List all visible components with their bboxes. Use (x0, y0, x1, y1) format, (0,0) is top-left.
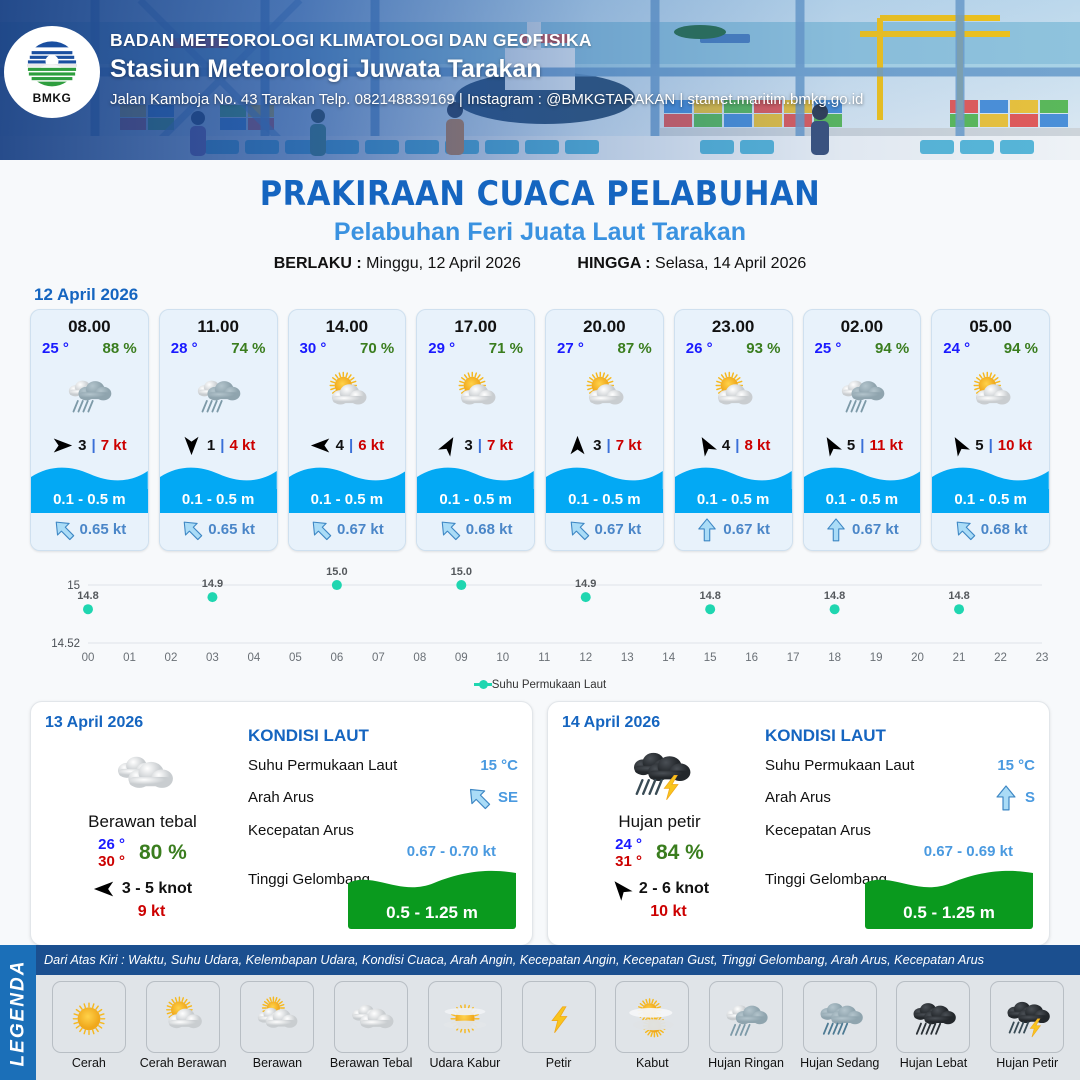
card-humidity: 88 % (103, 340, 137, 357)
svg-text:23: 23 (1036, 652, 1049, 664)
forecast-card: 20.00 27 ° 87 % 3 | 7 kt (545, 309, 664, 551)
card-time: 02.00 (804, 310, 921, 337)
legend-icon-box (428, 981, 502, 1053)
sst-chart-svg: 1514.52000102030405060708091011121314151… (30, 565, 1050, 677)
hujan-ringan-icon (187, 365, 249, 421)
card-time: 23.00 (675, 310, 792, 337)
card-time: 11.00 (160, 310, 277, 337)
card-wave-height: 0.1 - 0.5 m (954, 491, 1027, 508)
card-time: 20.00 (546, 310, 663, 337)
current-direction-icon (696, 518, 718, 542)
legend-caption: Berawan Tebal (330, 1056, 412, 1070)
card-humidity: 70 % (360, 340, 394, 357)
card-humidity: 71 % (489, 340, 523, 357)
card-temperature: 25 ° (815, 340, 842, 357)
svg-text:14.8: 14.8 (699, 590, 720, 602)
header-text-block: BADAN METEOROLOGI KLIMATOLOGI DAN GEOFIS… (110, 30, 863, 108)
wave-shape-icon (675, 463, 792, 489)
svg-text:14.8: 14.8 (77, 590, 98, 602)
wind-direction-icon (817, 431, 846, 460)
hujan-ringan-icon (716, 990, 776, 1044)
panel-temp-max: 31 ° (615, 853, 642, 870)
legend-icon-box (334, 981, 408, 1053)
card-humidity: 87 % (618, 340, 652, 357)
card-weather-icon (804, 357, 921, 429)
card-temp-humidity-row: 27 ° 87 % (546, 337, 663, 357)
wave-height-band: 0.5 - 1.25 m (865, 901, 1033, 929)
card-wave-height: 0.1 - 0.5 m (311, 491, 384, 508)
svg-text:05: 05 (289, 652, 302, 664)
card-current-speed: 0.67 kt (852, 521, 899, 538)
svg-text:22: 22 (994, 652, 1007, 664)
card-wind-speed: 5 (975, 437, 983, 454)
current-direction-icon (461, 780, 496, 815)
svg-text:14.52: 14.52 (51, 638, 80, 650)
panel-humidity: 80 % (139, 841, 187, 865)
sea-condition-title: KONDISI LAUT (765, 726, 1035, 746)
wave-shape-icon (804, 463, 921, 489)
cerah-berawan-icon (702, 365, 764, 421)
current-direction-value-group: S (994, 785, 1035, 811)
panel-wind-row: 3 - 5 knot (45, 878, 240, 900)
sst-label: Suhu Permukaan Laut (765, 757, 914, 774)
sst-value: 15 °C (997, 757, 1035, 774)
svg-text:15.0: 15.0 (451, 566, 472, 578)
legend-icon-box (896, 981, 970, 1053)
card-wave-graphic: 0.1 - 0.5 m (932, 463, 1049, 513)
panel-condition: Hujan petir (562, 812, 757, 832)
card-wind-separator: | (860, 437, 864, 454)
card-time: 17.00 (417, 310, 534, 337)
validity-row: BERLAKU : Minggu, 12 April 2026 HINGGA :… (0, 255, 1080, 273)
wave-height-value: 0.5 - 1.25 m (386, 903, 478, 922)
current-direction-icon (562, 514, 594, 546)
card-temperature: 26 ° (686, 340, 713, 357)
wind-direction-icon (605, 874, 636, 905)
svg-text:20: 20 (911, 652, 924, 664)
legend-caption: Kabut (636, 1056, 669, 1070)
svg-text:14: 14 (662, 652, 675, 664)
panel-temp-min: 26 ° (98, 836, 125, 853)
card-wave-graphic: 0.1 - 0.5 m (417, 463, 534, 513)
legend-icon-box (803, 981, 877, 1053)
wave-shape-icon (546, 463, 663, 489)
svg-text:13: 13 (621, 652, 634, 664)
legend-caption: Udara Kabur (429, 1056, 500, 1070)
wave-shape-icon (289, 463, 406, 489)
page-title: PRAKIRAAN CUACA PELABUHAN (0, 174, 1080, 214)
svg-text:21: 21 (953, 652, 966, 664)
sea-condition-title: KONDISI LAUT (248, 726, 518, 746)
wave-shape-green-icon (865, 867, 1033, 901)
card-wind-row: 4 | 8 kt (675, 429, 792, 461)
berawan-icon (247, 990, 307, 1044)
valid-from-value: Minggu, 12 April 2026 (366, 255, 521, 272)
legend-caption: Hujan Lebat (900, 1056, 967, 1070)
sst-chart: 1514.52000102030405060708091011121314151… (30, 565, 1050, 677)
card-gust: 8 kt (744, 437, 770, 454)
legend-item: Berawan (235, 981, 321, 1070)
legend-caption: Hujan Petir (996, 1056, 1058, 1070)
card-wave-height: 0.1 - 0.5 m (53, 491, 126, 508)
card-humidity: 94 % (875, 340, 909, 357)
card-wind-row: 3 | 7 kt (417, 429, 534, 461)
legend-icon-box (146, 981, 220, 1053)
card-wave-band: 0.1 - 0.5 m (804, 489, 921, 513)
panel-gust: 9 kt (45, 903, 240, 921)
card-wave-graphic: 0.1 - 0.5 m (289, 463, 406, 513)
card-wave-height: 0.1 - 0.5 m (697, 491, 770, 508)
svg-text:06: 06 (330, 652, 343, 664)
legend-icon-box (240, 981, 314, 1053)
current-direction-icon (47, 514, 79, 546)
card-wind-speed: 4 (722, 437, 730, 454)
forecast-card: 05.00 24 ° 94 % 5 | 10 kt (931, 309, 1050, 551)
card-time: 08.00 (31, 310, 148, 337)
card-wave-band: 0.1 - 0.5 m (417, 489, 534, 513)
panel-temps-row: 26 ° 30 ° 80 % (45, 836, 240, 871)
legend-side-label: LEGENDA (7, 959, 29, 1066)
card-wind-separator: | (607, 437, 611, 454)
current-direction-value-group: SE (467, 785, 518, 811)
legend-dot-icon (479, 680, 488, 689)
bmkg-logo: BMKG (4, 26, 100, 118)
svg-text:01: 01 (123, 652, 136, 664)
card-current-row: 0.67 kt (546, 513, 663, 550)
forecast-card: 23.00 26 ° 93 % 4 | 8 kt (674, 309, 793, 551)
daily-summary-panel: 14 April 2026 Hujan petir (547, 701, 1050, 946)
legend-caption: Hujan Sedang (800, 1056, 879, 1070)
svg-text:02: 02 (165, 652, 178, 664)
title-block: PRAKIRAAN CUACA PELABUHAN Pelabuhan Feri… (0, 160, 1080, 273)
card-wind-row: 4 | 6 kt (289, 429, 406, 461)
svg-text:03: 03 (206, 652, 219, 664)
card-wind-separator: | (92, 437, 96, 454)
card-current-row: 0.67 kt (675, 513, 792, 550)
wave-shape-icon (417, 463, 534, 489)
hujan-ringan-icon (58, 365, 120, 421)
card-current-speed: 0.68 kt (466, 521, 513, 538)
wave-height-badge: 0.5 - 1.25 m (348, 867, 516, 929)
forecast-card: 11.00 28 ° 74 % (159, 309, 278, 551)
panel-right: KONDISI LAUT Suhu Permukaan Laut 15 °C A… (757, 714, 1035, 933)
legend-note: Dari Atas Kiri : Waktu, Suhu Udara, Kele… (44, 953, 984, 967)
panel-condition: Berawan tebal (45, 812, 240, 832)
legend-item: Hujan Sedang (797, 981, 883, 1070)
legend-items-row: Cerah Cerah Berawan (36, 975, 1080, 1080)
card-temperature: 27 ° (557, 340, 584, 357)
card-gust: 6 kt (358, 437, 384, 454)
card-weather-icon (31, 357, 148, 429)
legend-item: Cerah (46, 981, 132, 1070)
svg-text:15.0: 15.0 (326, 566, 347, 578)
card-temperature: 24 ° (943, 340, 970, 357)
panel-temp-max: 30 ° (98, 853, 125, 870)
svg-text:15: 15 (704, 652, 717, 664)
wave-shape-icon (932, 463, 1049, 489)
panel-weather-icon (45, 734, 240, 812)
current-direction-icon (305, 514, 337, 546)
card-current-row: 0.65 kt (160, 513, 277, 550)
bmkg-emblem-icon (24, 40, 80, 90)
card-current-row: 0.67 kt (289, 513, 406, 550)
svg-text:16: 16 (745, 652, 758, 664)
card-wave-band: 0.1 - 0.5 m (932, 489, 1049, 513)
card-temperature: 28 ° (171, 340, 198, 357)
valid-to-value: Selasa, 14 April 2026 (655, 255, 806, 272)
panel-gust: 10 kt (562, 903, 757, 921)
legend-item: Kabut (609, 981, 695, 1070)
card-wave-graphic: 0.1 - 0.5 m (160, 463, 277, 513)
card-current-speed: 0.65 kt (80, 521, 127, 538)
card-humidity: 94 % (1004, 340, 1038, 357)
cerah-icon (59, 990, 119, 1044)
current-speed-label: Kecepatan Arus (765, 822, 871, 839)
wind-direction-icon (181, 435, 202, 456)
card-wind-separator: | (478, 437, 482, 454)
svg-text:18: 18 (828, 652, 841, 664)
card-current-speed: 0.65 kt (208, 521, 255, 538)
wave-height-value: 0.5 - 1.25 m (903, 903, 995, 922)
wave-shape-icon (31, 463, 148, 489)
wind-direction-icon (692, 431, 721, 460)
agency-name: BADAN METEOROLOGI KLIMATOLOGI DAN GEOFIS… (110, 30, 863, 51)
card-wave-graphic: 0.1 - 0.5 m (675, 463, 792, 513)
card-wind-separator: | (989, 437, 993, 454)
sst-row: Suhu Permukaan Laut 15 °C (765, 757, 1035, 774)
card-wave-height: 0.1 - 0.5 m (826, 491, 899, 508)
current-direction-icon (949, 514, 981, 546)
hujan-lebat-icon (903, 990, 963, 1044)
legend-caption: Hujan Ringan (708, 1056, 784, 1070)
wind-direction-icon (310, 435, 331, 456)
card-wave-height: 0.1 - 0.5 m (182, 491, 255, 508)
contact-line: Jalan Kamboja No. 43 Tarakan Telp. 08214… (110, 91, 863, 108)
svg-text:08: 08 (413, 652, 426, 664)
card-temp-humidity-row: 25 ° 94 % (804, 337, 921, 357)
card-current-row: 0.68 kt (932, 513, 1049, 550)
svg-text:07: 07 (372, 652, 385, 664)
panel-wind-range: 3 - 5 knot (122, 880, 192, 898)
svg-text:17: 17 (787, 652, 800, 664)
card-wind-row: 3 | 7 kt (546, 429, 663, 461)
udara-kabur-icon (435, 990, 495, 1044)
card-time: 05.00 (932, 310, 1049, 337)
wave-height-badge: 0.5 - 1.25 m (865, 867, 1033, 929)
card-humidity: 74 % (231, 340, 265, 357)
card-wind-speed: 3 (593, 437, 601, 454)
legend-icon-box (990, 981, 1064, 1053)
card-temperature: 29 ° (428, 340, 455, 357)
sst-label: Suhu Permukaan Laut (248, 757, 397, 774)
card-current-speed: 0.67 kt (337, 521, 384, 538)
legend-item: Hujan Ringan (703, 981, 789, 1070)
card-current-row: 0.68 kt (417, 513, 534, 550)
card-weather-icon (675, 357, 792, 429)
card-wind-speed: 3 (464, 437, 472, 454)
forecast-card: 14.00 30 ° 70 % 4 | 6 kt (288, 309, 407, 551)
legend-item: Berawan Tebal (328, 981, 414, 1070)
card-current-row: 0.65 kt (31, 513, 148, 550)
forecast-card: 17.00 29 ° 71 % 3 | 7 kt (416, 309, 535, 551)
legend-icon-box (52, 981, 126, 1053)
legend-caption: Petir (546, 1056, 572, 1070)
card-wave-band: 0.1 - 0.5 m (31, 489, 148, 513)
legend-bar: LEGENDA Dari Atas Kiri : Waktu, Suhu Uda… (0, 945, 1080, 1080)
card-weather-icon (417, 357, 534, 429)
cerah-berawan-icon (153, 990, 213, 1044)
current-speed-row: Kecepatan Arus (248, 822, 518, 839)
current-direction-label: Arah Arus (248, 789, 314, 806)
wind-direction-icon (52, 435, 73, 456)
card-gust: 11 kt (869, 437, 902, 454)
hujan-ringan-icon (831, 365, 893, 421)
svg-text:19: 19 (870, 652, 883, 664)
card-gust: 7 kt (101, 437, 127, 454)
card-wind-separator: | (735, 437, 739, 454)
cerah-berawan-icon (573, 365, 635, 421)
panel-temp-column: 24 ° 31 ° (615, 836, 642, 871)
svg-text:14.9: 14.9 (202, 578, 223, 590)
current-direction-icon (434, 514, 466, 546)
wind-direction-icon (93, 878, 115, 900)
card-gust: 10 kt (998, 437, 1032, 454)
petir-icon (529, 990, 589, 1044)
card-gust: 7 kt (487, 437, 513, 454)
svg-text:00: 00 (82, 652, 95, 664)
legend-side-tab: LEGENDA (0, 945, 36, 1080)
card-weather-icon (289, 357, 406, 429)
svg-text:14.8: 14.8 (824, 590, 845, 602)
forecast-date-label: 12 April 2026 (34, 285, 1080, 305)
card-weather-icon (932, 357, 1049, 429)
card-temp-humidity-row: 24 ° 94 % (932, 337, 1049, 357)
card-wave-height: 0.1 - 0.5 m (568, 491, 641, 508)
hujan-sedang-icon (810, 990, 870, 1044)
legend-item: Petir (516, 981, 602, 1070)
card-wind-speed: 3 (78, 437, 86, 454)
panel-wind-row: 2 - 6 knot (562, 878, 757, 900)
card-time: 14.00 (289, 310, 406, 337)
hujan-petir-icon (620, 737, 700, 809)
card-temp-humidity-row: 26 ° 93 % (675, 337, 792, 357)
current-direction-icon (176, 514, 208, 546)
wave-shape-icon (160, 463, 277, 489)
current-speed-value: 0.67 - 0.69 kt (765, 843, 1035, 860)
panel-left: 14 April 2026 Hujan petir (562, 714, 757, 933)
card-weather-icon (546, 357, 663, 429)
legend-item: Udara Kabur (422, 981, 508, 1070)
card-wind-speed: 5 (847, 437, 855, 454)
wind-direction-icon (567, 435, 588, 456)
card-wind-speed: 4 (336, 437, 344, 454)
svg-text:11: 11 (538, 652, 550, 664)
berawan-tebal-icon (103, 737, 183, 809)
panel-humidity: 84 % (656, 841, 704, 865)
current-speed-row: Kecepatan Arus (765, 822, 1035, 839)
bmkg-logo-text: BMKG (33, 91, 72, 105)
legend-item: Hujan Petir (984, 981, 1070, 1070)
card-temp-humidity-row: 30 ° 70 % (289, 337, 406, 357)
current-direction-icon (994, 785, 1018, 811)
panel-temps-row: 24 ° 31 ° 84 % (562, 836, 757, 871)
svg-text:12: 12 (579, 652, 592, 664)
card-temperature: 30 ° (300, 340, 327, 357)
panel-wind-range: 2 - 6 knot (639, 880, 709, 898)
card-wave-band: 0.1 - 0.5 m (675, 489, 792, 513)
card-humidity: 93 % (746, 340, 780, 357)
current-direction-label: Arah Arus (765, 789, 831, 806)
page-header: BMKG BADAN METEOROLOGI KLIMATOLOGI DAN G… (0, 0, 1080, 160)
legend-icon-box (615, 981, 689, 1053)
forecast-card: 02.00 25 ° 94 % (803, 309, 922, 551)
panel-right: KONDISI LAUT Suhu Permukaan Laut 15 °C A… (240, 714, 518, 933)
wave-height-band: 0.5 - 1.25 m (348, 901, 516, 929)
legend-caption: Cerah Berawan (140, 1056, 227, 1070)
legend-item: Hujan Lebat (891, 981, 977, 1070)
panel-temp-column: 26 ° 30 ° (98, 836, 125, 871)
valid-to-group: HINGGA : Selasa, 14 April 2026 (577, 255, 806, 273)
legend-caption: Berawan (253, 1056, 302, 1070)
card-wave-graphic: 0.1 - 0.5 m (546, 463, 663, 513)
card-gust: 7 kt (616, 437, 642, 454)
legend-item: Cerah Berawan (140, 981, 227, 1070)
legend-caption: Cerah (72, 1056, 106, 1070)
card-wave-band: 0.1 - 0.5 m (546, 489, 663, 513)
svg-text:04: 04 (248, 652, 261, 664)
current-direction-icon (825, 518, 847, 542)
current-direction-row: Arah Arus S (765, 785, 1035, 811)
current-direction-row: Arah Arus SE (248, 785, 518, 811)
cerah-berawan-icon (316, 365, 378, 421)
card-weather-icon (160, 357, 277, 429)
kabut-icon (622, 990, 682, 1044)
card-wind-row: 1 | 4 kt (160, 429, 277, 461)
card-wind-row: 3 | 7 kt (31, 429, 148, 461)
svg-text:14.9: 14.9 (575, 578, 596, 590)
card-temp-humidity-row: 25 ° 88 % (31, 337, 148, 357)
forecast-cards-row: 08.00 25 ° 88 % (0, 309, 1080, 551)
current-direction-value: SE (498, 789, 518, 806)
legend-icon-box (709, 981, 783, 1053)
card-wind-separator: | (349, 437, 353, 454)
cerah-berawan-icon (445, 365, 507, 421)
wave-shape-green-icon (348, 867, 516, 901)
valid-from-group: BERLAKU : Minggu, 12 April 2026 (274, 255, 521, 273)
daily-summary-panel: 13 April 2026 Berawan tebal (30, 701, 533, 946)
wind-direction-icon (435, 431, 464, 460)
svg-text:09: 09 (455, 652, 468, 664)
card-wind-separator: | (220, 437, 224, 454)
current-direction-value: S (1025, 789, 1035, 806)
valid-from-label: BERLAKU : (274, 255, 362, 272)
card-wind-speed: 1 (207, 437, 215, 454)
card-temp-humidity-row: 29 ° 71 % (417, 337, 534, 357)
valid-to-label: HINGGA : (577, 255, 650, 272)
panel-weather-icon (562, 734, 757, 812)
panel-temp-min: 24 ° (615, 836, 642, 853)
svg-text:10: 10 (496, 652, 509, 664)
panel-date: 13 April 2026 (45, 714, 240, 732)
card-current-speed: 0.67 kt (595, 521, 642, 538)
card-wave-band: 0.1 - 0.5 m (289, 489, 406, 513)
forecast-card: 08.00 25 ° 88 % (30, 309, 149, 551)
wind-direction-icon (945, 431, 974, 460)
card-temperature: 25 ° (42, 340, 69, 357)
hujan-petir-icon (997, 990, 1057, 1044)
card-wind-row: 5 | 10 kt (932, 429, 1049, 461)
chart-legend: Suhu Permukaan Laut (0, 679, 1080, 691)
